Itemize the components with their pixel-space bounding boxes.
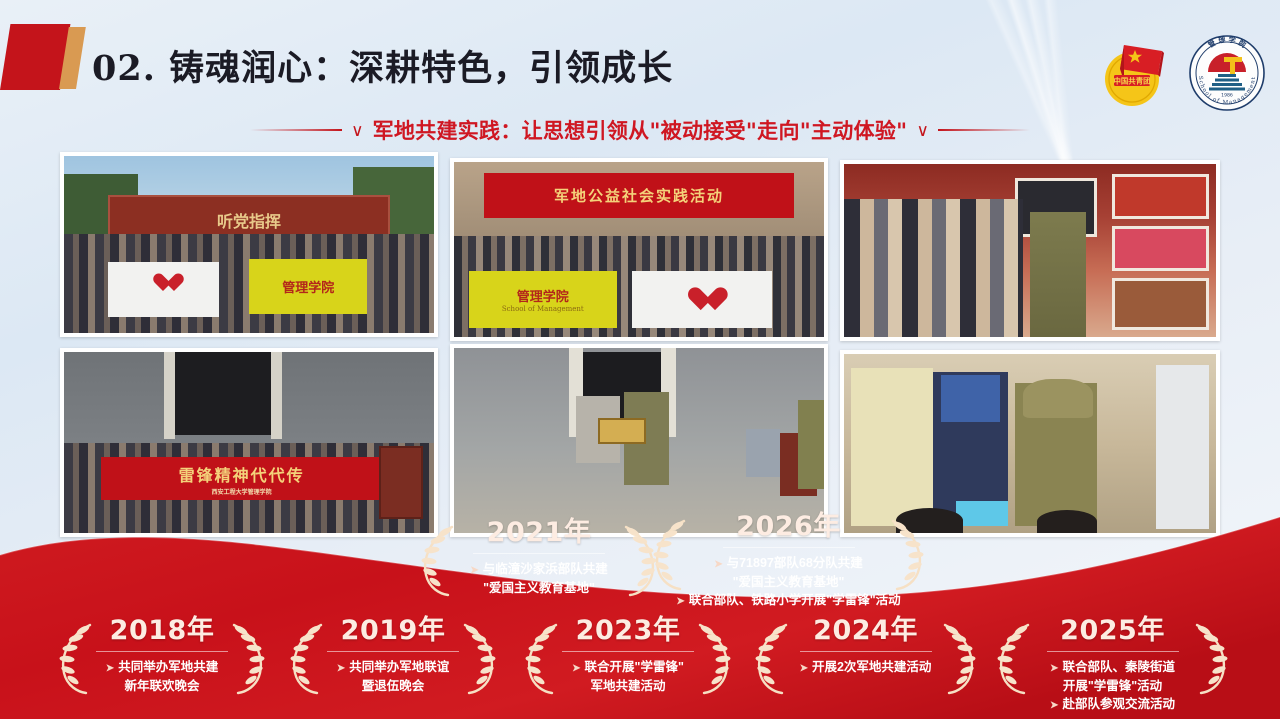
photo-2-red-banner: 军地公益社会实践活动: [484, 173, 795, 219]
school-of-management-emblem: 1986 管 理 学 院 School of Management: [1188, 34, 1266, 112]
bullet-arrow-icon: ➤: [337, 663, 345, 674]
subtitle-text: 军地共建实践：让思想引领从"被动接受"走向"主动体验": [373, 115, 908, 145]
photo-5-plaque: [598, 418, 646, 444]
slide-header: 02. 铸魂润心：深耕特色，引领成长 中国共青团: [0, 18, 1280, 96]
laurel-wreath-left-icon: [650, 517, 690, 591]
header-accent-mark: [0, 24, 88, 90]
photo-2-yellow-banner: 管理学院 School of Management: [469, 271, 617, 329]
laurel-wreath-left-icon: [287, 621, 327, 695]
photo-1-wall-text: 听党指挥: [131, 206, 368, 234]
timeline-divider: [723, 547, 855, 548]
laurel-wreath-right-icon: [1191, 621, 1231, 695]
zigzag-icon-left: ∨: [351, 122, 363, 139]
bullet-arrow-icon: ➤: [800, 663, 808, 674]
bullet-arrow-icon: ➤: [676, 596, 684, 607]
zigzag-icon-right: ∨: [916, 122, 928, 139]
photo-3-soldier: [1030, 212, 1086, 337]
communist-youth-league-emblem: 中国共青团: [1098, 35, 1174, 111]
svg-text:1986: 1986: [1221, 93, 1233, 99]
bullet-arrow-icon: ➤: [470, 565, 478, 576]
timeline-divider: [800, 651, 932, 652]
laurel-wreath-right-icon: [228, 621, 268, 695]
timeline-item-2025[interactable]: 2025年 ➤联合部队、秦陵街道 开展"学雷锋"活动 ➤赴部队参观交流活动: [1000, 617, 1225, 713]
subtitle-banner: ∨ 军地共建实践：让思想引领从"被动接受"走向"主动体验" ∨: [0, 112, 1280, 148]
subtitle-rule-right: [938, 129, 1030, 131]
timeline-item-2021[interactable]: 2021年 ➤与临潼沙家浜部队共建 "爱国主义教育基地": [424, 519, 654, 597]
bullet-arrow-icon: ➤: [572, 663, 580, 674]
subtitle-rule-left: [250, 129, 342, 131]
bullet-arrow-icon: ➤: [714, 559, 722, 570]
laurel-wreath-left-icon: [418, 523, 458, 597]
laurel-wreath-right-icon: [887, 517, 927, 591]
photo-2-white-banner: [632, 271, 773, 329]
timeline-item-2023[interactable]: 2023年 ➤联合开展"学雷锋" 军地共建活动: [528, 617, 728, 695]
laurel-wreath-right-icon: [939, 621, 979, 695]
laurel-wreath-left-icon: [752, 621, 792, 695]
photo-1[interactable]: 听党指挥 管理学院: [60, 152, 438, 337]
timeline-item-2026[interactable]: 2026年 ➤与71897部队68分队共建 "爱国主义教育基地" ➤联合部队、铁…: [656, 513, 921, 609]
timeline-divider: [562, 651, 694, 652]
photo-1-yellow-banner: 管理学院: [249, 259, 367, 314]
timeline-content-2026: ➤与71897部队68分队共建 "爱国主义教育基地" ➤联合部队、铁路小学开展"…: [656, 554, 921, 609]
laurel-wreath-right-icon: [459, 621, 499, 695]
laurel-wreath-left-icon: [56, 621, 96, 695]
laurel-wreath-left-icon: [994, 621, 1034, 695]
bullet-arrow-icon: ➤: [1050, 663, 1058, 674]
svg-text:中国共青团: 中国共青团: [1114, 77, 1151, 86]
laurel-wreath-left-icon: [522, 621, 562, 695]
laurel-wreath-right-icon: [694, 621, 734, 695]
timeline-divider: [1047, 651, 1179, 652]
timeline-divider: [327, 651, 459, 652]
timeline-divider: [96, 651, 228, 652]
photo-2[interactable]: 军地公益社会实践活动 管理学院 School of Management: [450, 158, 828, 341]
logo-group: 中国共青团 1986 管 理 学 院: [1098, 34, 1266, 112]
bullet-arrow-icon: ➤: [1050, 700, 1058, 711]
timeline-divider: [473, 553, 605, 554]
page-title: 02. 铸魂润心：深耕特色，引领成长: [92, 40, 673, 91]
timeline-item-2018[interactable]: 2018年 ➤共同举办军地共建 新年联欢晚会: [62, 617, 262, 695]
bullet-arrow-icon: ➤: [106, 663, 114, 674]
timeline-item-2019[interactable]: 2019年 ➤共同举办军地联谊 暨退伍晚会: [293, 617, 493, 695]
photo-1-white-banner: [108, 262, 219, 317]
timeline-item-2024[interactable]: 2024年 ➤开展2次军地共建活动: [758, 617, 973, 677]
timeline-year-2026: 2026年: [656, 513, 921, 540]
photo-3[interactable]: [840, 160, 1220, 341]
